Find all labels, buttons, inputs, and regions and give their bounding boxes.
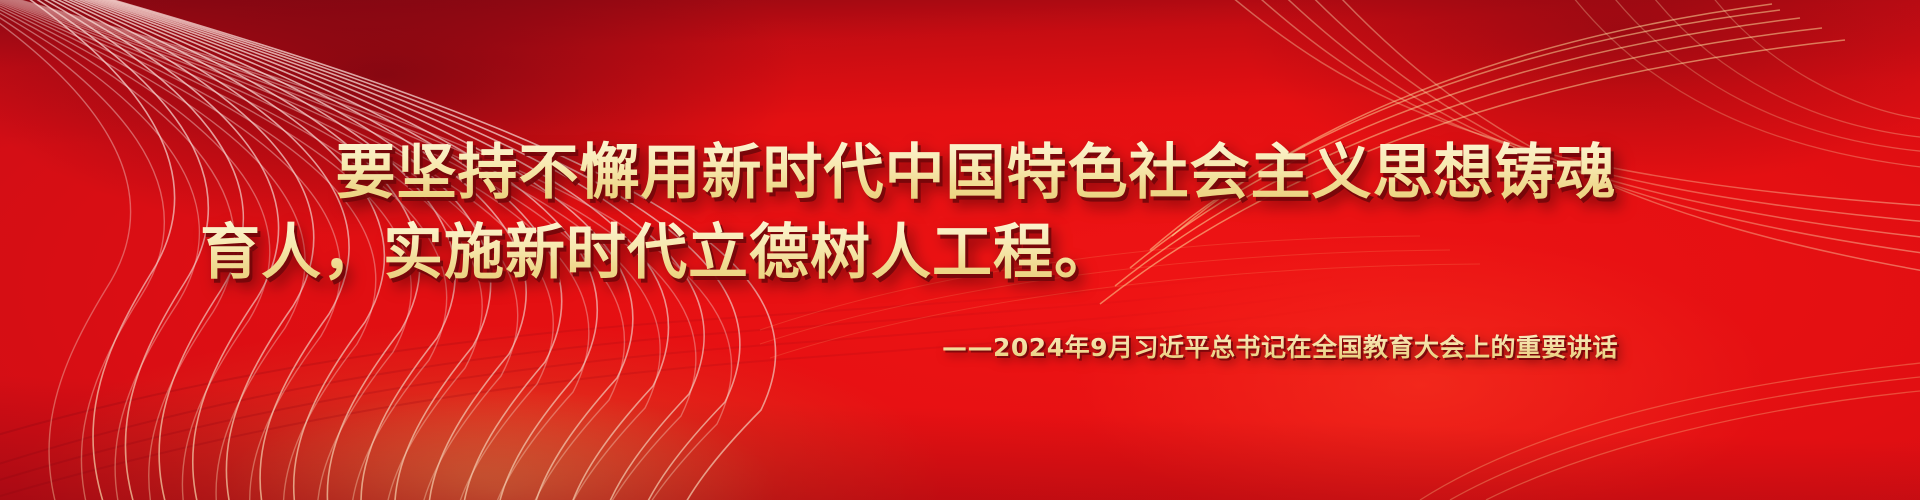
banner-content: 要坚持不懈用新时代中国特色社会主义思想铸魂 育人，实施新时代立德树人工程。 ——… [0,0,1920,500]
headline-line-2: 育人，实施新时代立德树人工程。 [0,216,1856,290]
banner-root: 要坚持不懈用新时代中国特色社会主义思想铸魂 育人，实施新时代立德树人工程。 ——… [0,0,1920,500]
headline-line-1: 要坚持不懈用新时代中国特色社会主义思想铸魂 [0,136,1856,210]
attribution-source: ——2024年9月习近平总书记在全国教育大会上的重要讲话 [0,328,1856,364]
